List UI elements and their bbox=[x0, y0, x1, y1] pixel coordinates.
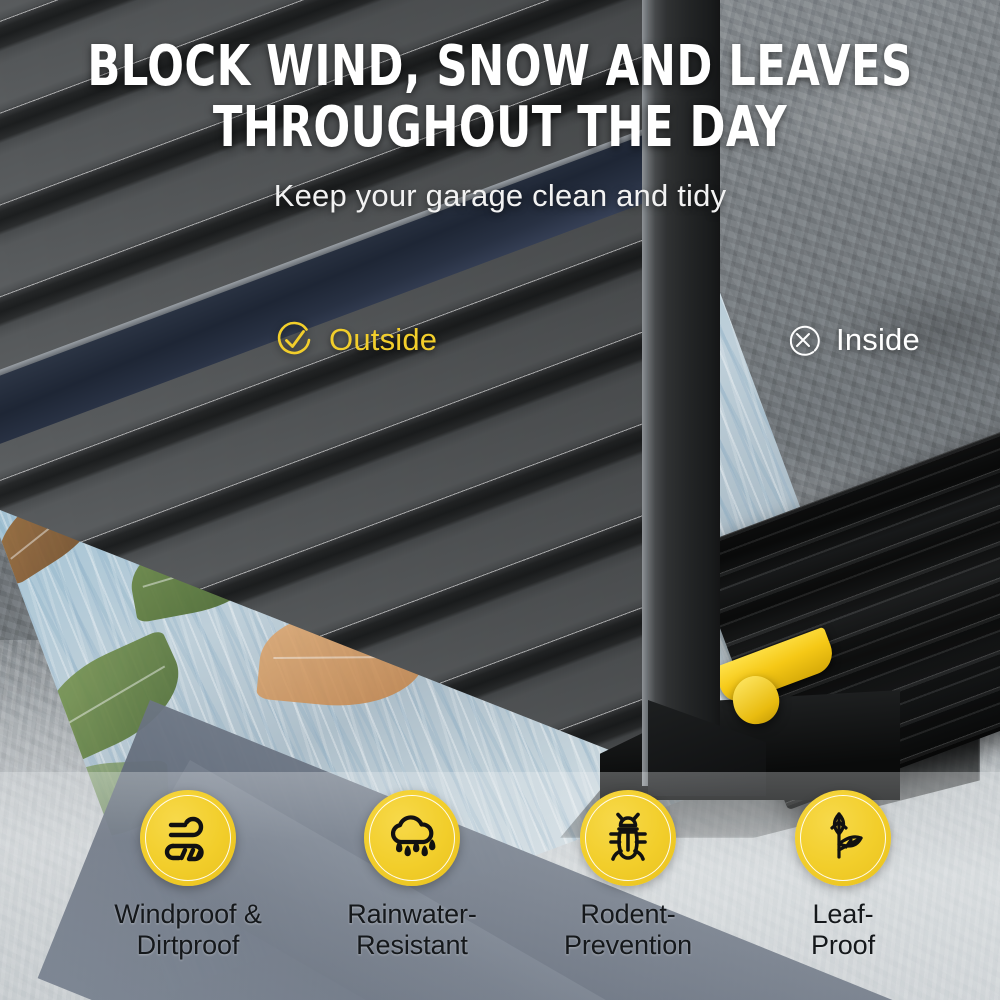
feature-label: Rodent- Prevention bbox=[564, 899, 692, 961]
feature-leaf: Leaf- Proof bbox=[733, 790, 953, 961]
marker-inside-label: Inside bbox=[836, 322, 920, 358]
feature-rodent: Rodent- Prevention bbox=[518, 790, 738, 961]
feature-rainwater: Rainwater- Resistant bbox=[302, 790, 522, 961]
feature-label-line-2: Prevention bbox=[564, 930, 692, 960]
bug-icon bbox=[600, 810, 656, 866]
product-marketing-image: BLOCK WIND, SNOW AND LEAVES THROUGHOUT T… bbox=[0, 0, 1000, 1000]
wind-icon bbox=[159, 809, 217, 867]
feature-label-line-1: Rainwater- bbox=[347, 899, 477, 929]
feature-badge bbox=[795, 790, 891, 886]
feature-label-line-2: Resistant bbox=[356, 930, 468, 960]
x-circle-icon bbox=[783, 320, 823, 360]
feature-label-line-2: Dirtproof bbox=[137, 930, 240, 960]
rain-icon bbox=[383, 809, 441, 867]
headline-line-2: THROUGHOUT THE DAY bbox=[70, 97, 930, 158]
feature-label-line-2: Proof bbox=[811, 930, 875, 960]
marker-outside-label: Outside bbox=[329, 322, 437, 358]
feature-label-line-1: Windproof & bbox=[114, 899, 261, 929]
marker-inside: Inside bbox=[783, 320, 920, 360]
check-circle-icon bbox=[272, 318, 316, 362]
headline: BLOCK WIND, SNOW AND LEAVES THROUGHOUT T… bbox=[70, 36, 930, 158]
feature-list: Windproof & Dirtproof Rainw bbox=[0, 790, 1000, 1000]
headline-line-1: BLOCK WIND, SNOW AND LEAVES bbox=[87, 34, 912, 99]
feature-label-line-1: Rodent- bbox=[580, 899, 675, 929]
feature-windproof: Windproof & Dirtproof bbox=[78, 790, 298, 961]
feature-badge bbox=[364, 790, 460, 886]
leaf-icon bbox=[815, 810, 871, 866]
feature-label-line-1: Leaf- bbox=[812, 899, 873, 929]
feature-badge bbox=[140, 790, 236, 886]
feature-badge bbox=[580, 790, 676, 886]
feature-label: Rainwater- Resistant bbox=[347, 899, 477, 961]
feature-label: Windproof & Dirtproof bbox=[114, 899, 261, 961]
subtitle: Keep your garage clean and tidy bbox=[0, 178, 1000, 214]
marker-outside: Outside bbox=[272, 318, 437, 362]
feature-label: Leaf- Proof bbox=[811, 899, 875, 961]
